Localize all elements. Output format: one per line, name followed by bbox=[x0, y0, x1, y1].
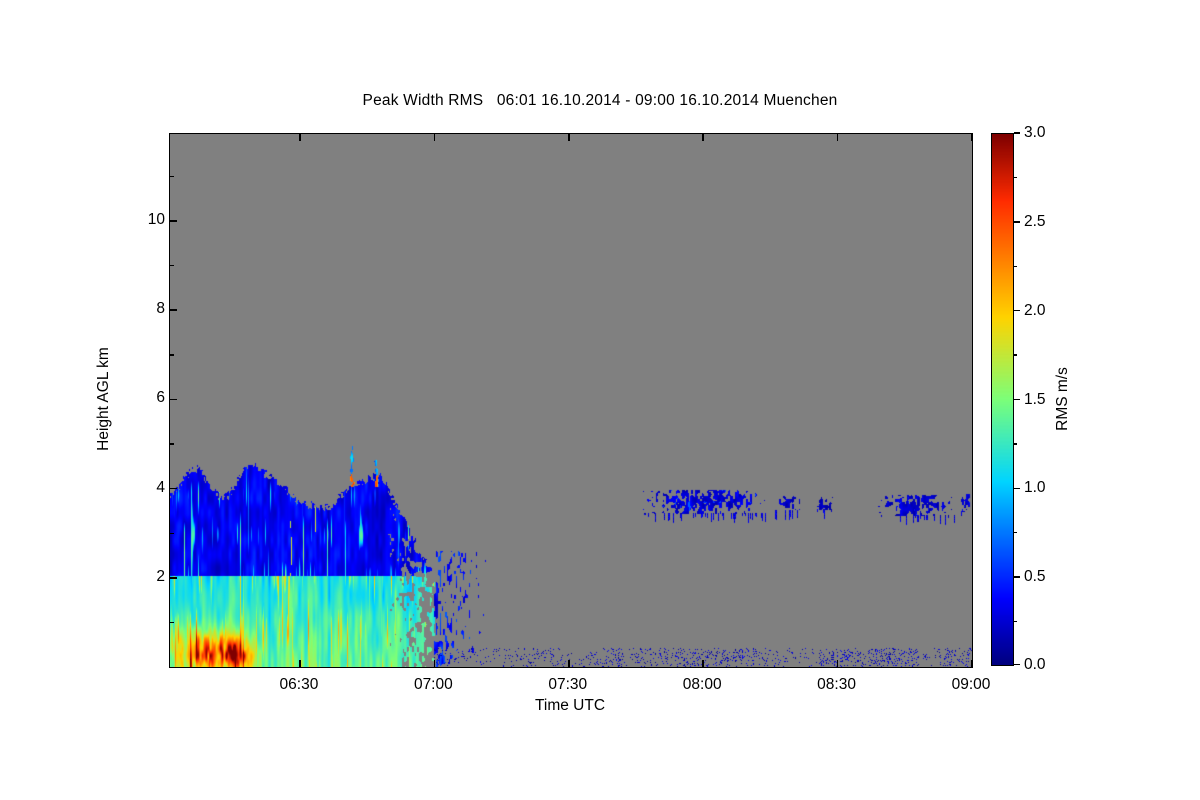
colorbar-tick-label: 2.5 bbox=[1024, 213, 1046, 231]
x-axis-tick bbox=[702, 667, 704, 668]
x-axis-tick-label: 08:30 bbox=[817, 676, 856, 694]
x-axis-tick-top-inner bbox=[568, 134, 570, 141]
colorbar-tick bbox=[1014, 221, 1020, 222]
x-axis-tick-inner bbox=[568, 660, 570, 667]
x-axis-tick-label: 07:30 bbox=[548, 676, 587, 694]
x-axis-minor-tick bbox=[747, 667, 748, 668]
x-axis-minor-tick-top bbox=[389, 133, 390, 134]
y-axis-tick-inner bbox=[170, 488, 177, 490]
colorbar-gradient bbox=[991, 133, 1014, 666]
x-axis-tick-inner bbox=[837, 660, 839, 667]
colorbar-tick bbox=[1014, 399, 1020, 400]
x-axis-minor-tick-top bbox=[882, 133, 883, 134]
x-axis-minor-tick bbox=[613, 667, 614, 668]
figure-canvas: Peak Width RMS 06:01 16.10.2014 - 09:00 … bbox=[0, 0, 1200, 800]
x-axis-tick-label: 06:30 bbox=[280, 676, 319, 694]
x-axis-minor-tick-top bbox=[523, 133, 524, 134]
colorbar-tick-label: 0.5 bbox=[1024, 568, 1046, 586]
colorbar-tick bbox=[1014, 664, 1020, 665]
y-axis-minor-tick-inner bbox=[170, 265, 174, 266]
colorbar-tick-label: 2.0 bbox=[1024, 302, 1046, 320]
y-axis-tick-label: 2 bbox=[156, 568, 165, 586]
x-axis-tick-inner bbox=[702, 660, 704, 667]
colorbar-tick-label: 1.0 bbox=[1024, 479, 1046, 497]
x-axis-tick-label: 08:00 bbox=[683, 676, 722, 694]
x-axis-label: Time UTC bbox=[535, 697, 605, 715]
x-axis-minor-tick bbox=[479, 667, 480, 668]
x-axis-tick bbox=[971, 667, 973, 668]
x-axis-tick-top-inner bbox=[702, 134, 704, 141]
x-axis-minor-tick-top bbox=[747, 133, 748, 134]
y-axis-minor-tick-inner bbox=[170, 443, 174, 444]
x-axis-minor-tick bbox=[210, 667, 211, 668]
x-axis-minor-tick bbox=[882, 667, 883, 668]
colorbar-minor-tick bbox=[1014, 266, 1017, 267]
colorbar-tick bbox=[1014, 488, 1020, 489]
y-axis-tick-label: 6 bbox=[156, 389, 165, 407]
colorbar-minor-tick bbox=[1014, 177, 1017, 178]
y-axis-tick-inner bbox=[170, 577, 177, 579]
x-axis-minor-tick-top bbox=[210, 133, 211, 134]
x-axis-minor-tick bbox=[792, 667, 793, 668]
page-title: Peak Width RMS 06:01 16.10.2014 - 09:00 … bbox=[0, 92, 1200, 110]
colorbar-tick bbox=[1014, 132, 1020, 133]
x-axis-minor-tick-top bbox=[344, 133, 345, 134]
colorbar-tick-label: 1.5 bbox=[1024, 391, 1046, 409]
y-axis-minor-tick-inner bbox=[170, 533, 174, 534]
x-axis-tick bbox=[837, 667, 839, 668]
x-axis-minor-tick bbox=[523, 667, 524, 668]
y-axis-tick-inner bbox=[170, 399, 177, 401]
colorbar-minor-tick bbox=[1014, 354, 1017, 355]
x-axis-tick-inner bbox=[299, 660, 301, 667]
x-axis-minor-tick bbox=[344, 667, 345, 668]
x-axis-tick-top-inner bbox=[837, 134, 839, 141]
x-axis-tick bbox=[568, 667, 570, 668]
colorbar-tick bbox=[1014, 576, 1020, 577]
heatmap-plot-area[interactable] bbox=[169, 133, 973, 668]
x-axis-minor-tick-top bbox=[613, 133, 614, 134]
x-axis-tick-label: 09:00 bbox=[952, 676, 991, 694]
x-axis-tick bbox=[434, 667, 436, 668]
y-axis-minor-tick-inner bbox=[170, 354, 174, 355]
x-axis-tick-top-inner bbox=[434, 134, 436, 141]
colorbar-minor-tick bbox=[1014, 621, 1017, 622]
y-axis-tick-label: 8 bbox=[156, 300, 165, 318]
x-axis-tick-inner bbox=[971, 660, 973, 667]
y-axis-tick-inner bbox=[170, 309, 177, 311]
x-axis-tick-top-inner bbox=[971, 134, 973, 141]
colorbar[interactable] bbox=[991, 133, 1014, 666]
y-axis-tick-inner bbox=[170, 220, 177, 222]
x-axis-minor-tick-top bbox=[792, 133, 793, 134]
x-axis-minor-tick bbox=[927, 667, 928, 668]
y-axis-minor-tick-inner bbox=[170, 622, 174, 623]
y-axis-minor-tick-inner bbox=[170, 176, 174, 177]
y-axis-tick-label: 4 bbox=[156, 479, 165, 497]
colorbar-tick-label: 0.0 bbox=[1024, 656, 1046, 674]
heatmap-image bbox=[170, 134, 972, 667]
y-axis-label: Height AGL km bbox=[95, 347, 113, 451]
colorbar-tick-label: 3.0 bbox=[1024, 124, 1046, 142]
x-axis-tick-inner bbox=[434, 660, 436, 667]
x-axis-minor-tick-top bbox=[658, 133, 659, 134]
x-axis-minor-tick-top bbox=[255, 133, 256, 134]
colorbar-label: RMS m/s bbox=[1054, 367, 1072, 431]
x-axis-minor-tick bbox=[255, 667, 256, 668]
x-axis-minor-tick bbox=[658, 667, 659, 668]
y-axis-tick-label: 10 bbox=[148, 211, 165, 229]
x-axis-tick-top-inner bbox=[299, 134, 301, 141]
x-axis-tick-label: 07:00 bbox=[414, 676, 453, 694]
colorbar-minor-tick bbox=[1014, 443, 1017, 444]
x-axis-minor-tick-top bbox=[479, 133, 480, 134]
x-axis-tick bbox=[299, 667, 301, 668]
x-axis-minor-tick-top bbox=[927, 133, 928, 134]
x-axis-minor-tick bbox=[389, 667, 390, 668]
colorbar-tick bbox=[1014, 310, 1020, 311]
colorbar-minor-tick bbox=[1014, 532, 1017, 533]
